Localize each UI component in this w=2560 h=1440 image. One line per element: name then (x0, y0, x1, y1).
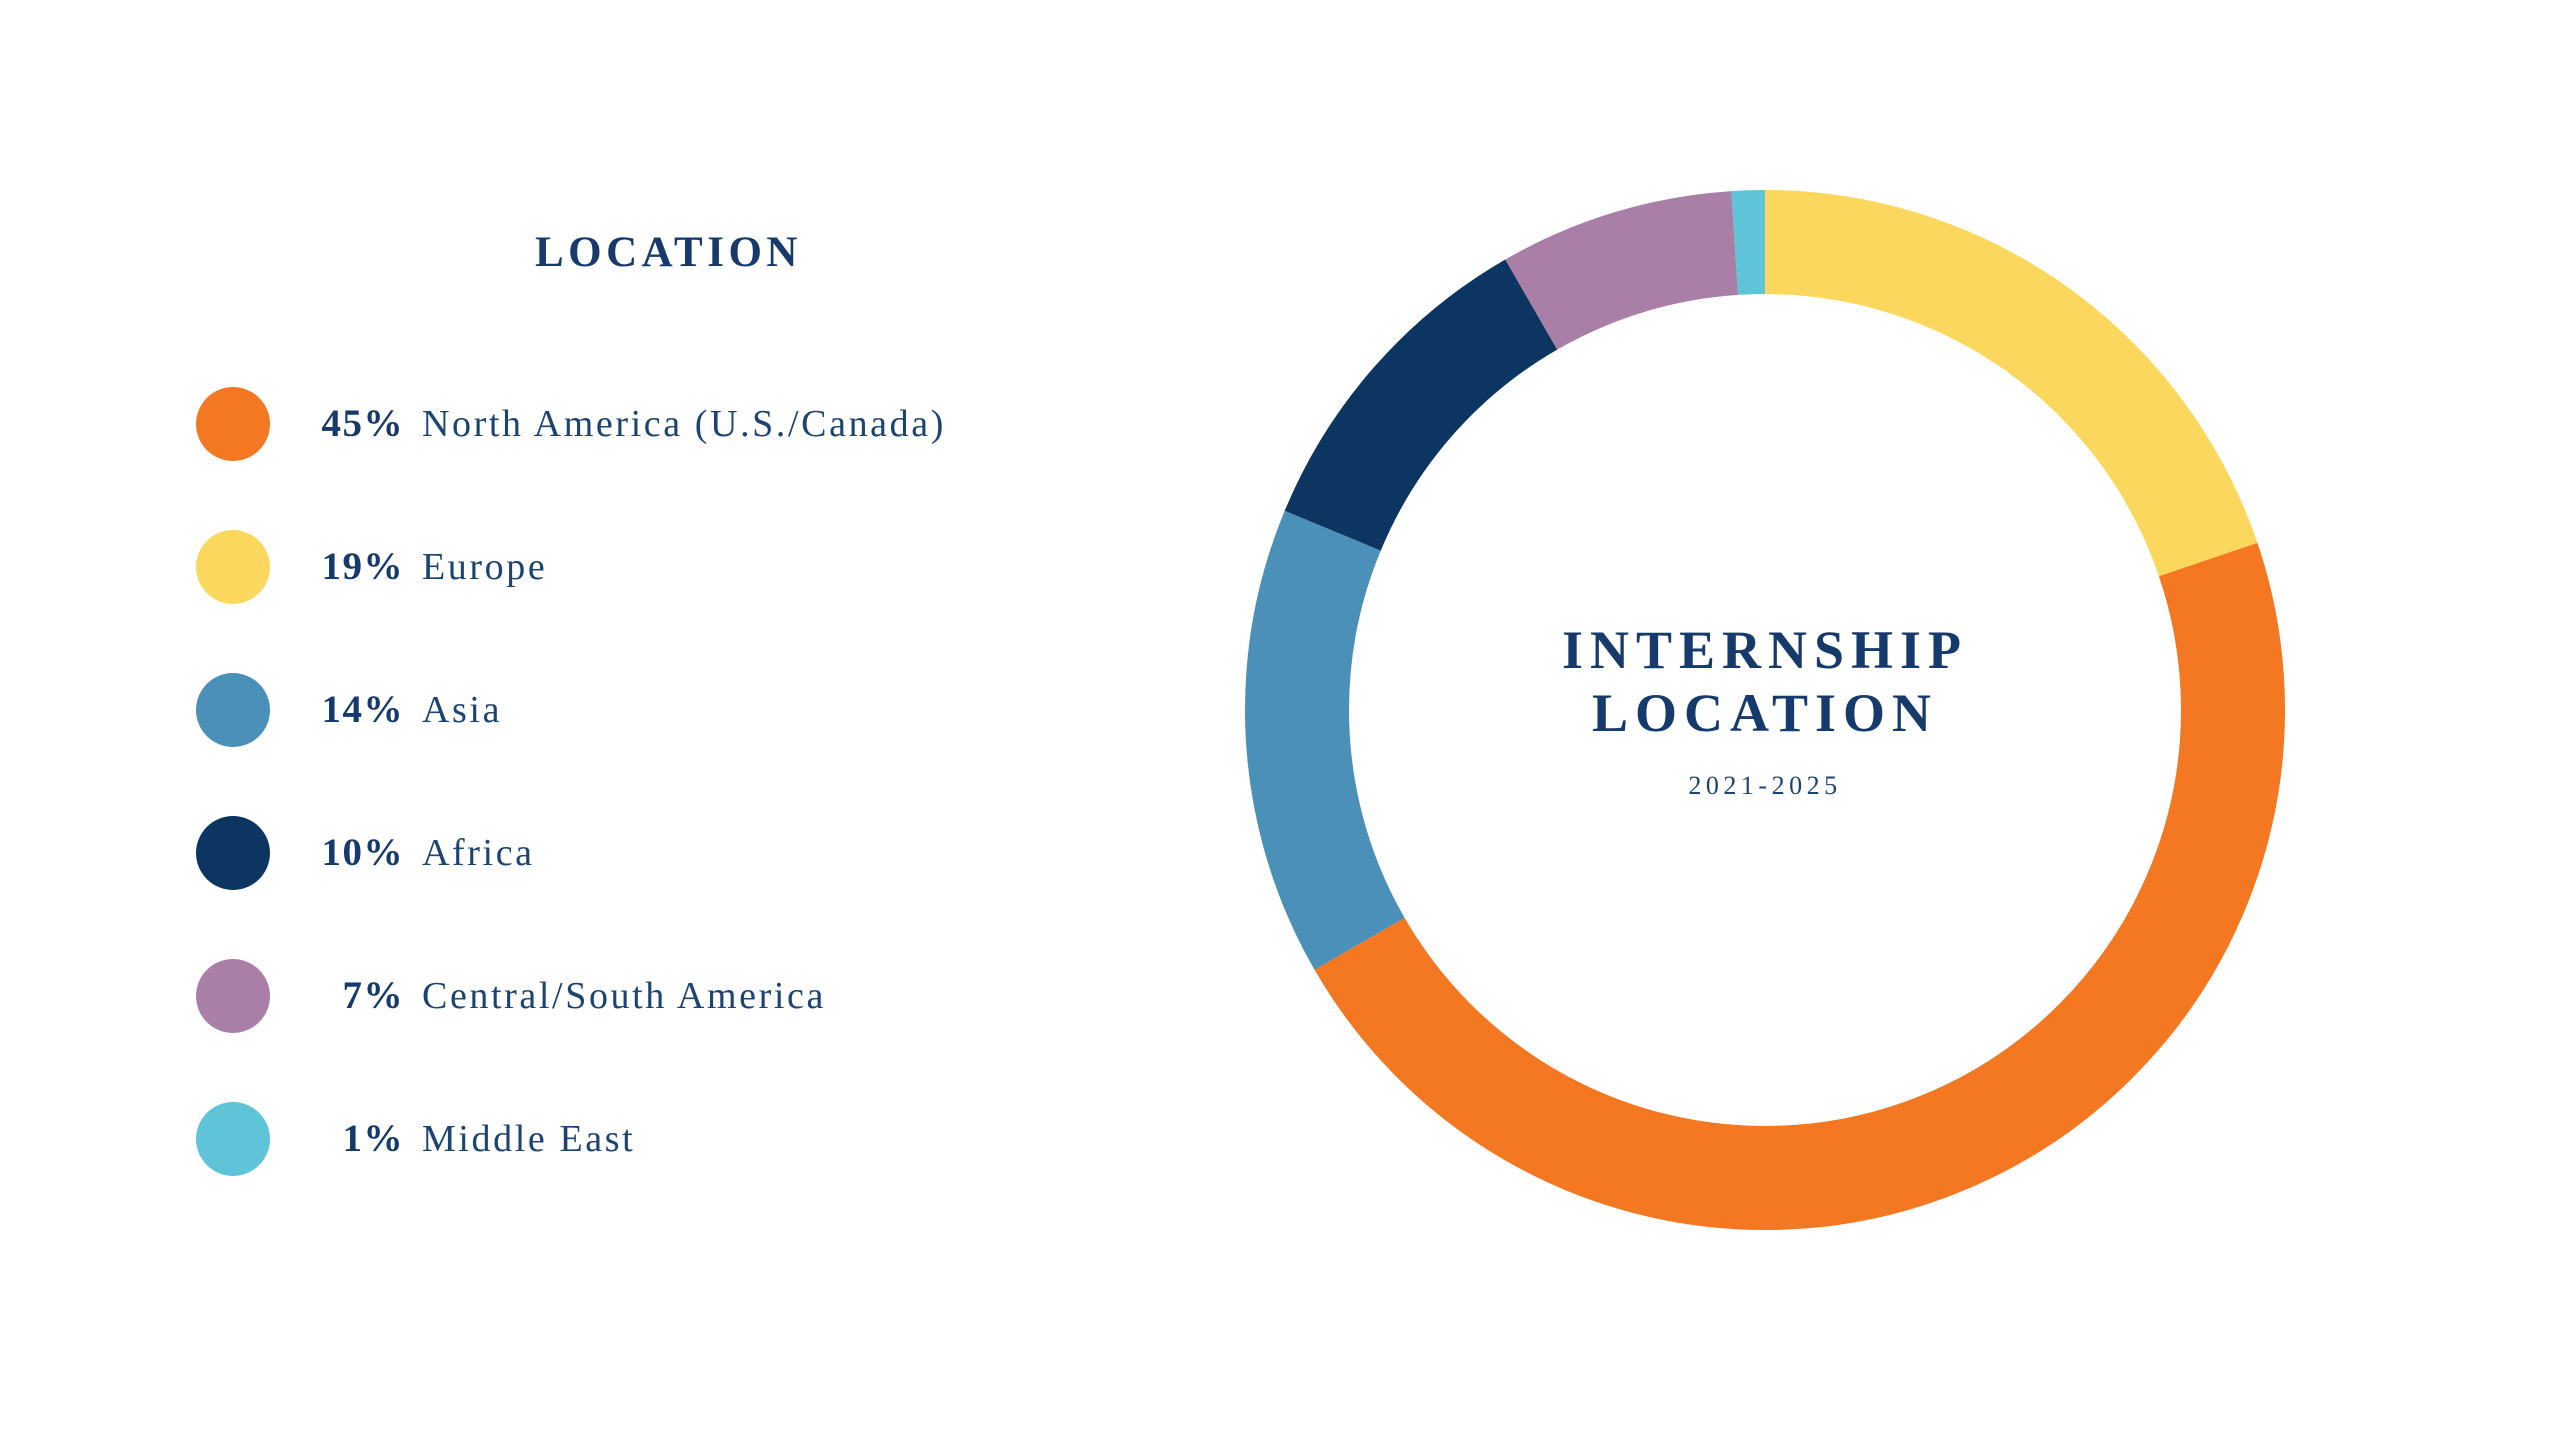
legend-percent: 19% (270, 544, 422, 589)
legend-dot-icon (196, 1102, 270, 1176)
donut-svg (1245, 190, 2285, 1230)
legend-dot-icon (196, 959, 270, 1033)
legend-item-europe[interactable]: 19% Europe (196, 523, 1196, 610)
legend-item-central-south-america[interactable]: 7% Central/South America (196, 952, 1196, 1039)
legend-panel: LOCATION 45% North America (U.S./Canada)… (0, 0, 1240, 1440)
donut-chart: INTERNSHIP LOCATION 2021-2025 (1245, 190, 2285, 1230)
legend-dot-icon (196, 816, 270, 890)
legend-list: 45% North America (U.S./Canada) 19% Euro… (196, 380, 1196, 1238)
legend-dot-icon (196, 387, 270, 461)
donut-segment-group (1297, 242, 2233, 1178)
legend-percent: 7% (270, 973, 422, 1018)
legend-percent: 1% (270, 1116, 422, 1161)
legend-item-middle-east[interactable]: 1% Middle East (196, 1095, 1196, 1182)
legend-dot-icon (196, 530, 270, 604)
legend-heading: LOCATION (535, 228, 802, 277)
internship-location-infographic: LOCATION 45% North America (U.S./Canada)… (0, 0, 2560, 1440)
legend-item-north-america[interactable]: 45% North America (U.S./Canada) (196, 380, 1196, 467)
legend-dot-icon (196, 673, 270, 747)
legend-label: Europe (422, 545, 547, 589)
legend-label: North America (U.S./Canada) (422, 402, 946, 446)
legend-label: Africa (422, 831, 535, 875)
legend-percent: 10% (270, 830, 422, 875)
legend-percent: 14% (270, 687, 422, 732)
legend-label: Middle East (422, 1117, 635, 1161)
legend-item-africa[interactable]: 10% Africa (196, 809, 1196, 896)
legend-label: Central/South America (422, 974, 826, 1018)
legend-label: Asia (422, 688, 502, 732)
legend-percent: 45% (270, 401, 422, 446)
legend-item-asia[interactable]: 14% Asia (196, 666, 1196, 753)
